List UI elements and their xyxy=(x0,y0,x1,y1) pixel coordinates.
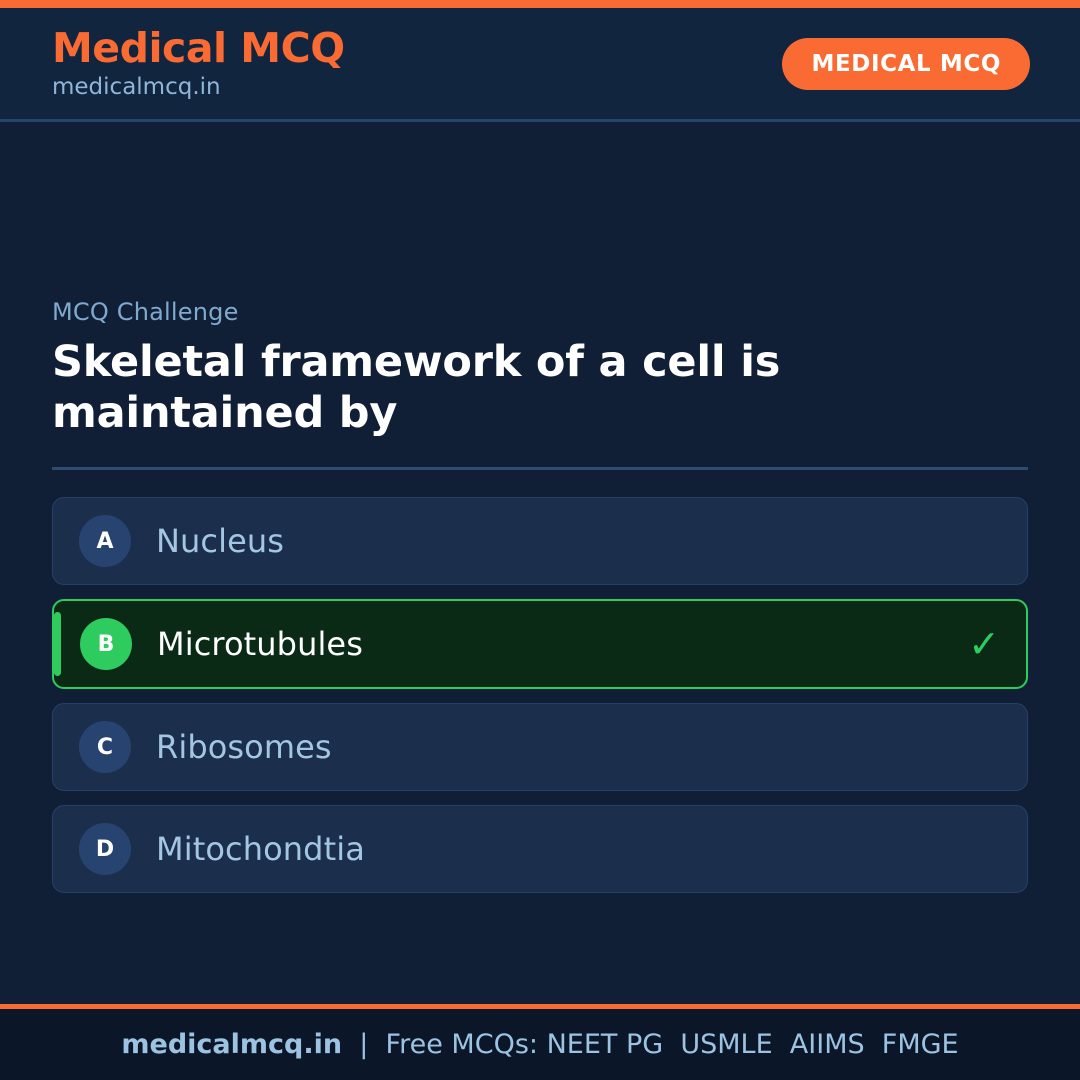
option-c[interactable]: C Ribosomes xyxy=(52,703,1028,791)
option-letter-badge: A xyxy=(79,515,131,567)
footer-separator: | xyxy=(342,1029,385,1060)
page-header: Medical MCQ medicalmcq.in MEDICAL MCQ xyxy=(0,8,1080,122)
correct-accent-bar xyxy=(54,612,61,676)
top-accent-bar xyxy=(0,0,1080,8)
footer-tagline: Free MCQs: NEET PG USMLE AIIMS FMGE xyxy=(386,1029,959,1060)
brand-title: Medical MCQ xyxy=(52,28,345,69)
main-content: MCQ Challenge Skeletal framework of a ce… xyxy=(0,122,1080,1004)
mcq-card: Medical MCQ medicalmcq.in MEDICAL MCQ MC… xyxy=(0,0,1080,1080)
header-badge: MEDICAL MCQ xyxy=(782,38,1030,90)
options-list: A Nucleus B Microtubules ✓ C Ribosomes D… xyxy=(52,497,1028,893)
question-divider xyxy=(52,467,1028,470)
option-letter-badge: B xyxy=(80,618,132,670)
option-label: Nucleus xyxy=(156,522,284,560)
brand-block: Medical MCQ medicalmcq.in xyxy=(52,28,345,99)
option-a[interactable]: A Nucleus xyxy=(52,497,1028,585)
option-label: Microtubules xyxy=(157,625,363,663)
brand-subtitle: medicalmcq.in xyxy=(52,76,345,99)
option-letter-badge: C xyxy=(79,721,131,773)
option-label: Ribosomes xyxy=(156,728,332,766)
option-d[interactable]: D Mitochondtia xyxy=(52,805,1028,893)
page-footer: medicalmcq.in | Free MCQs: NEET PG USMLE… xyxy=(0,1009,1080,1080)
option-label: Mitochondtia xyxy=(156,830,365,868)
question-title: Skeletal framework of a cell is maintain… xyxy=(52,337,952,439)
check-icon: ✓ xyxy=(968,625,1000,663)
option-letter-badge: D xyxy=(79,823,131,875)
question-block: MCQ Challenge Skeletal framework of a ce… xyxy=(52,298,1028,470)
footer-site: medicalmcq.in xyxy=(121,1029,342,1060)
question-eyebrow: MCQ Challenge xyxy=(52,298,1028,326)
option-b[interactable]: B Microtubules ✓ xyxy=(52,599,1028,689)
